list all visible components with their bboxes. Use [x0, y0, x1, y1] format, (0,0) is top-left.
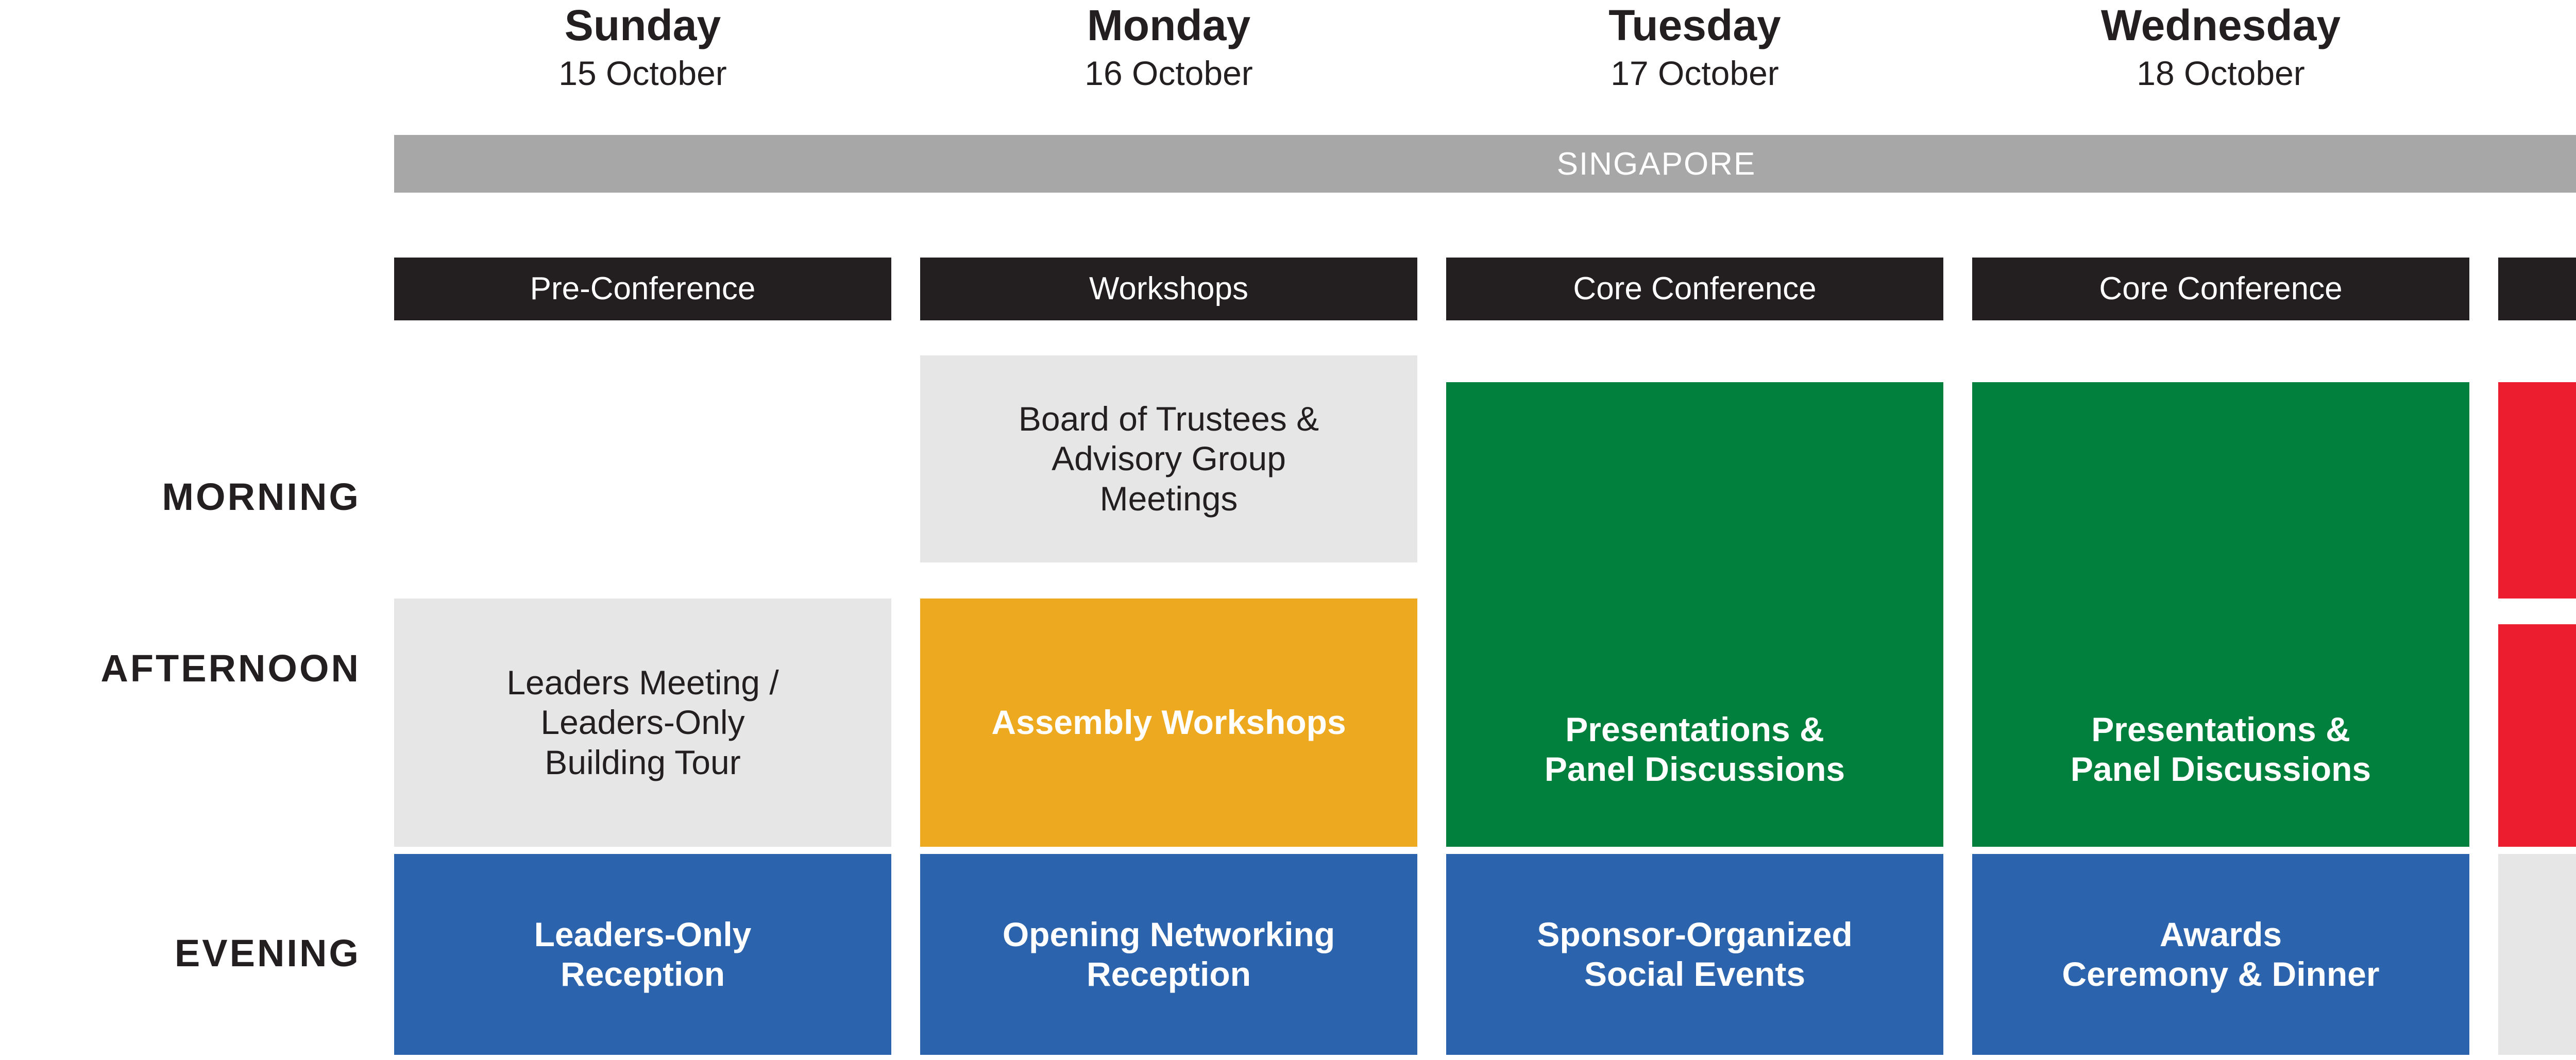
day-date: 16 October — [1084, 52, 1253, 95]
day-header-monday: Monday 16 October — [920, 0, 1417, 126]
event-cell-monday-evening[interactable]: Opening Networking Reception — [920, 854, 1417, 1055]
program-type-label: Pre-Conference — [530, 273, 756, 305]
event-cell-sunday-afternoon[interactable]: Leaders Meeting / Leaders-Only Building … — [394, 599, 891, 847]
location-band-singapore: SINGAPORE — [394, 135, 2576, 193]
event-cell-wednesday-evening[interactable]: Awards Ceremony & Dinner — [1972, 854, 2469, 1055]
program-type-monday: Workshops — [920, 258, 1417, 320]
day-name: Sunday — [565, 2, 721, 49]
program-type-label: Core Conference — [2099, 273, 2342, 305]
day-header-thursday: Thursday 19 October — [2498, 0, 2576, 126]
event-text: Board of Trustees & Advisory Group Meeti… — [1019, 399, 1319, 519]
event-text: Leaders Meeting / Leaders-Only Building … — [506, 663, 778, 782]
day-header-sunday: Sunday 15 October — [394, 0, 891, 126]
day-name: Wednesday — [2101, 2, 2341, 49]
day-name: Monday — [1087, 2, 1250, 49]
event-cell-thursday-afternoon[interactable]: PM Off-Site Programs — [2498, 624, 2576, 847]
program-type-label: Workshops — [1089, 273, 1248, 305]
program-type-label: Core Conference — [1573, 273, 1816, 305]
row-label-afternoon: AFTERNOON — [0, 646, 361, 690]
event-cell-thursday-evening[interactable]: Travel to Kuala Lumpur — [2498, 854, 2576, 1055]
event-cell-monday-afternoon[interactable]: Assembly Workshops — [920, 599, 1417, 847]
day-header-tuesday: Tuesday 17 October — [1446, 0, 1943, 126]
event-cell-tuesday-morning-afternoon[interactable]: Presentations & Panel Discussions — [1446, 382, 1943, 847]
location-label: SINGAPORE — [1557, 146, 1756, 182]
day-header-wednesday: Wednesday 18 October — [1972, 0, 2469, 126]
row-label-evening: EVENING — [0, 931, 361, 975]
day-date: 18 October — [2137, 52, 2305, 95]
day-date: 15 October — [558, 52, 727, 95]
event-text: Sponsor-Organized Social Events — [1537, 915, 1852, 994]
event-text: Awards Ceremony & Dinner — [2062, 915, 2379, 994]
event-text: Opening Networking Reception — [1003, 915, 1335, 994]
program-type-tuesday: Core Conference — [1446, 258, 1943, 320]
event-cell-thursday-morning[interactable]: AM Off-Site Programs — [2498, 382, 2576, 599]
row-label-morning: MORNING — [0, 475, 361, 519]
day-date: 17 October — [1611, 52, 1779, 95]
program-type-wednesday: Core Conference — [1972, 258, 2469, 320]
event-cell-wednesday-morning-afternoon[interactable]: Presentations & Panel Discussions — [1972, 382, 2469, 847]
event-cell-tuesday-evening[interactable]: Sponsor-Organized Social Events — [1446, 854, 1943, 1055]
event-cell-monday-morning[interactable]: Board of Trustees & Advisory Group Meeti… — [920, 355, 1417, 562]
event-text: Leaders-Only Reception — [534, 915, 752, 994]
event-text: Assembly Workshops — [991, 703, 1346, 742]
program-type-sunday: Pre-Conference — [394, 258, 891, 320]
event-cell-sunday-evening[interactable]: Leaders-Only Reception — [394, 854, 891, 1055]
program-type-thursday: Off-Site Programs — [2498, 258, 2576, 320]
event-text: Presentations & Panel Discussions — [1545, 710, 1845, 789]
day-name: Tuesday — [1608, 2, 1781, 49]
conference-schedule-grid: Sunday 15 October Monday 16 October Tues… — [0, 0, 2576, 1060]
event-text: Presentations & Panel Discussions — [2071, 710, 2371, 789]
